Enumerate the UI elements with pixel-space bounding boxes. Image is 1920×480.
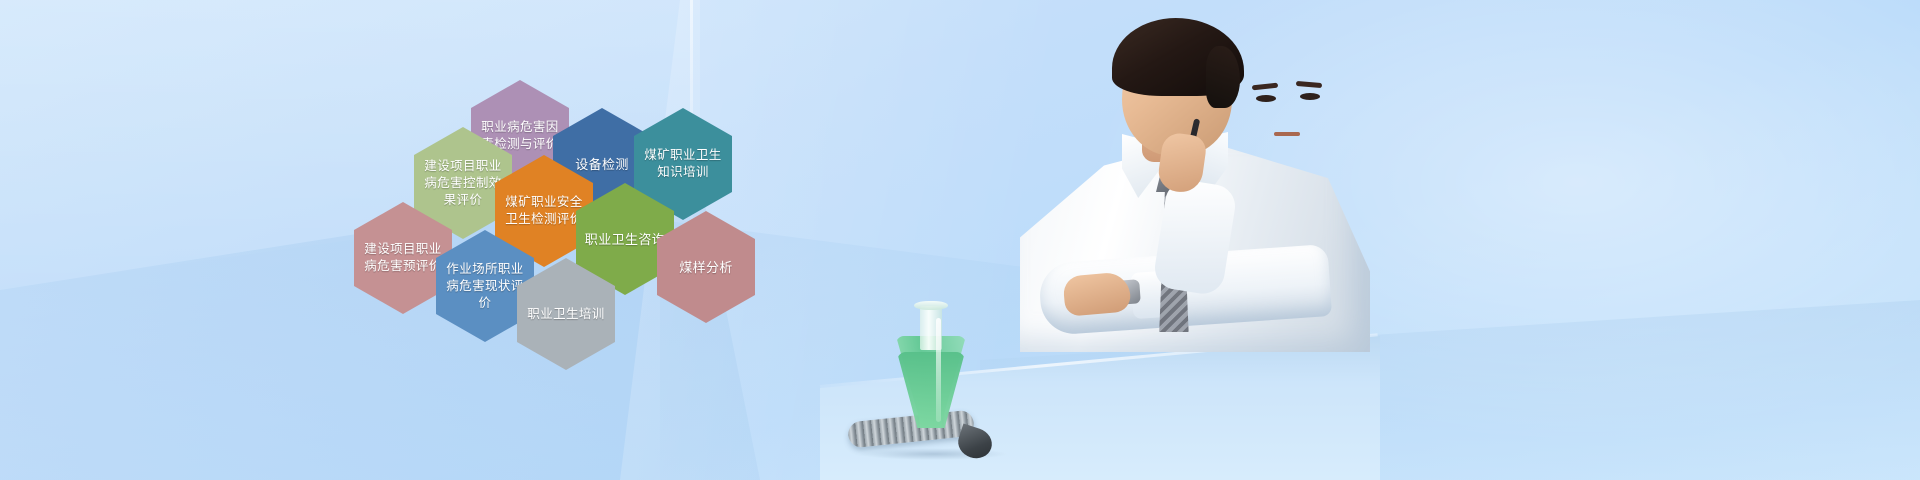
hero-banner: 职业病危害因素检测与评价设备检测煤矿职业卫生知识培训建设项目职业病危害控制效果评… [0,0,1920,480]
flask-green-liquid [897,352,965,428]
erlenmeyer-flask [896,293,966,428]
flask-lip [914,301,948,310]
man-eye-right [1300,93,1320,100]
service-hexagon-cluster: 职业病危害因素检测与评价设备检测煤矿职业卫生知识培训建设项目职业病危害控制效果评… [340,55,760,345]
lab-scene-photo [820,0,1380,480]
man-mouth [1274,132,1300,136]
hexagon-label: 煤样分析 [657,259,755,276]
man-in-white-shirt [1010,22,1370,352]
man-eyebrow-right [1296,81,1322,88]
man-eyebrow-left [1252,83,1278,91]
man-eye-left [1256,95,1276,102]
man-resting-hand [1062,271,1131,317]
hexagon-label: 煤矿职业卫生知识培训 [634,147,732,181]
hexagon-label: 职业卫生培训 [517,306,615,323]
flask-highlight [936,318,941,422]
